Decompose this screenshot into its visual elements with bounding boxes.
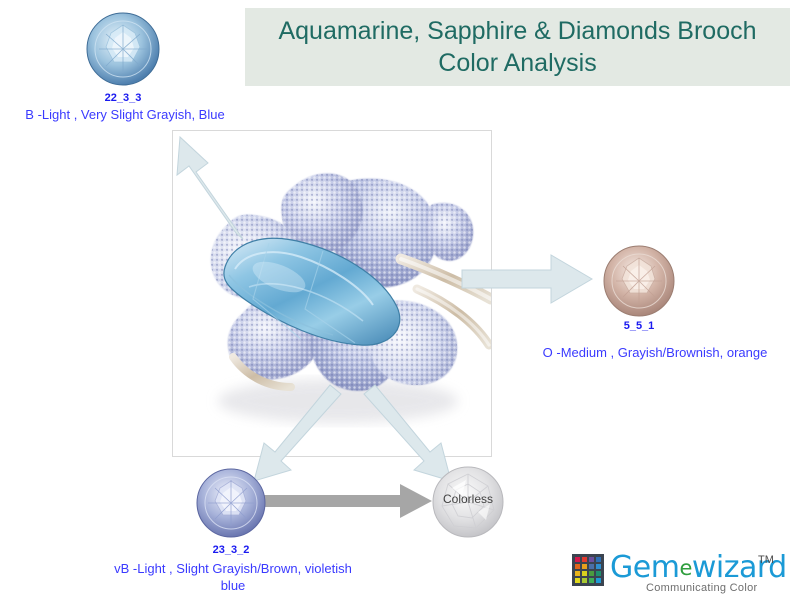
swatch-8 bbox=[575, 571, 580, 576]
logo-word-e: e bbox=[679, 556, 691, 580]
brooch-photograph bbox=[172, 130, 492, 457]
page-title: Aquamarine, Sapphire & Diamonds Brooch C… bbox=[245, 8, 790, 86]
gemewizard-logo: Gemewizard TM Communicating Color bbox=[572, 552, 792, 596]
aquamarine-code: 22_3_3 bbox=[63, 92, 183, 104]
sapphire-description-line-1: vB -Light , Slight Grayish/Brown, violet… bbox=[114, 561, 352, 576]
aquamarine-description: B -Light , Very Slight Grayish, Blue bbox=[0, 106, 250, 123]
swatch-6 bbox=[589, 564, 594, 569]
arrow-sapphire-to-colorless bbox=[262, 484, 432, 518]
color-grid-icon bbox=[572, 554, 604, 586]
swatch-10 bbox=[589, 571, 594, 576]
colorless-diamond-gem[interactable]: Colorless bbox=[432, 466, 504, 538]
swatch-3 bbox=[596, 557, 601, 562]
swatch-11 bbox=[596, 571, 601, 576]
sapphire-description: vB -Light , Slight Grayish/Brown, violet… bbox=[88, 560, 378, 594]
swatch-2 bbox=[589, 557, 594, 562]
orange-gem-description: O -Medium , Grayish/Brownish, orange bbox=[510, 344, 800, 361]
aquamarine-gem[interactable] bbox=[86, 12, 160, 86]
title-line-2: Color Analysis bbox=[438, 47, 596, 79]
swatch-1 bbox=[582, 557, 587, 562]
slide-canvas: Aquamarine, Sapphire & Diamonds Brooch C… bbox=[0, 0, 800, 600]
colorless-caption: Colorless bbox=[432, 492, 504, 506]
trademark-symbol: TM bbox=[758, 554, 774, 566]
swatch-5 bbox=[582, 564, 587, 569]
sapphire-code: 23_3_2 bbox=[171, 544, 291, 556]
swatch-14 bbox=[589, 578, 594, 583]
swatch-13 bbox=[582, 578, 587, 583]
violetish-blue-sapphire-gem[interactable] bbox=[196, 468, 266, 538]
brooch-illustration bbox=[173, 131, 491, 456]
swatch-0 bbox=[575, 557, 580, 562]
sapphire-description-line-2: blue bbox=[221, 578, 246, 593]
swatch-7 bbox=[596, 564, 601, 569]
logo-tagline: Communicating Color bbox=[646, 582, 757, 594]
orange-gem-code: 5_5_1 bbox=[579, 320, 699, 332]
swatch-12 bbox=[575, 578, 580, 583]
swatch-15 bbox=[596, 578, 601, 583]
swatch-9 bbox=[582, 571, 587, 576]
orange-brown-gem[interactable] bbox=[603, 245, 675, 317]
logo-word-part1: Gem bbox=[610, 550, 679, 585]
swatch-4 bbox=[575, 564, 580, 569]
title-line-1: Aquamarine, Sapphire & Diamonds Brooch bbox=[278, 15, 756, 47]
